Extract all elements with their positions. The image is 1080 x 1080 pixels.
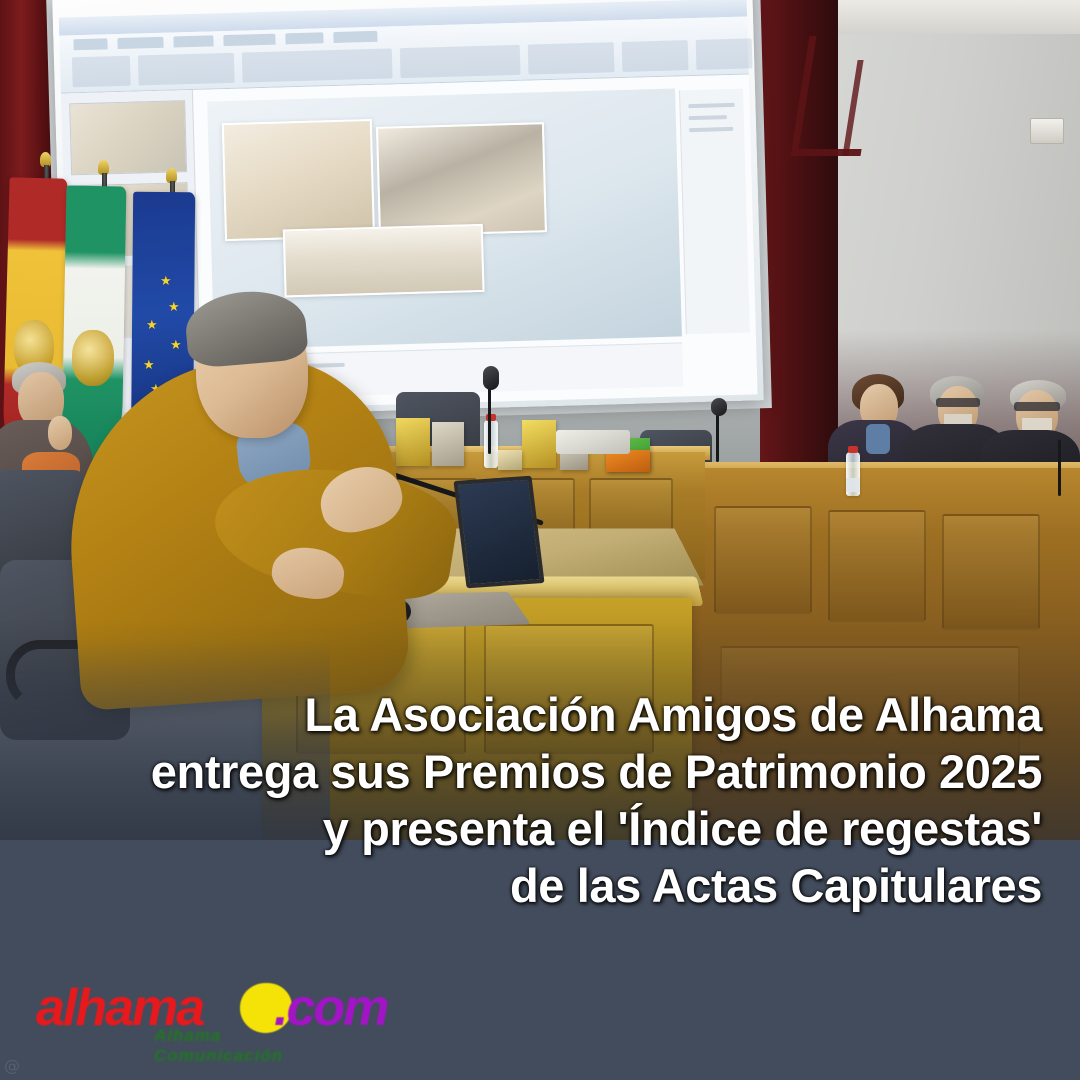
watermark-at-icon: @ xyxy=(4,1056,20,1075)
ribbon-tabs xyxy=(73,31,377,50)
microphone-stand xyxy=(716,410,719,462)
eu-star-icon: ★ xyxy=(170,338,182,351)
eu-star-icon: ★ xyxy=(168,300,180,313)
desk-papers xyxy=(556,430,630,454)
microphone-head xyxy=(711,398,727,416)
headline: La Asociación Amigos de Alhama entrega s… xyxy=(0,686,1042,914)
book-display xyxy=(522,420,556,468)
logo-tld: .com xyxy=(274,980,387,1036)
laptop-screen xyxy=(453,476,544,589)
social-card: ★ ★ ★ ★ ★ ★ xyxy=(0,0,1080,1080)
headline-line-1: La Asociación Amigos de Alhama xyxy=(0,686,1042,743)
headline-line-3: y presenta el 'Índice de regestas' xyxy=(0,800,1042,857)
book-display xyxy=(498,450,522,470)
slide-photo-2 xyxy=(376,122,547,237)
eu-star-icon: ★ xyxy=(146,318,158,331)
slide-photo-1 xyxy=(222,119,375,241)
wall-device-icon xyxy=(1030,118,1064,144)
microphone-stand xyxy=(488,380,491,454)
microphone-head xyxy=(483,366,499,390)
slide-right-pane xyxy=(679,89,750,335)
eu-star-icon: ★ xyxy=(160,274,172,287)
slide-photo-3 xyxy=(283,224,485,298)
microphone-stand xyxy=(1058,440,1061,496)
eu-star-icon: ★ xyxy=(143,358,155,371)
headline-line-2: entrega sus Premios de Patrimonio 2025 xyxy=(0,743,1042,800)
logo-tagline: Alhama Comunicación xyxy=(154,1026,283,1066)
headline-line-4: de las Actas Capitulares xyxy=(0,857,1042,914)
book-display xyxy=(396,418,430,466)
book-display xyxy=(432,422,464,466)
water-bottle xyxy=(484,420,498,468)
